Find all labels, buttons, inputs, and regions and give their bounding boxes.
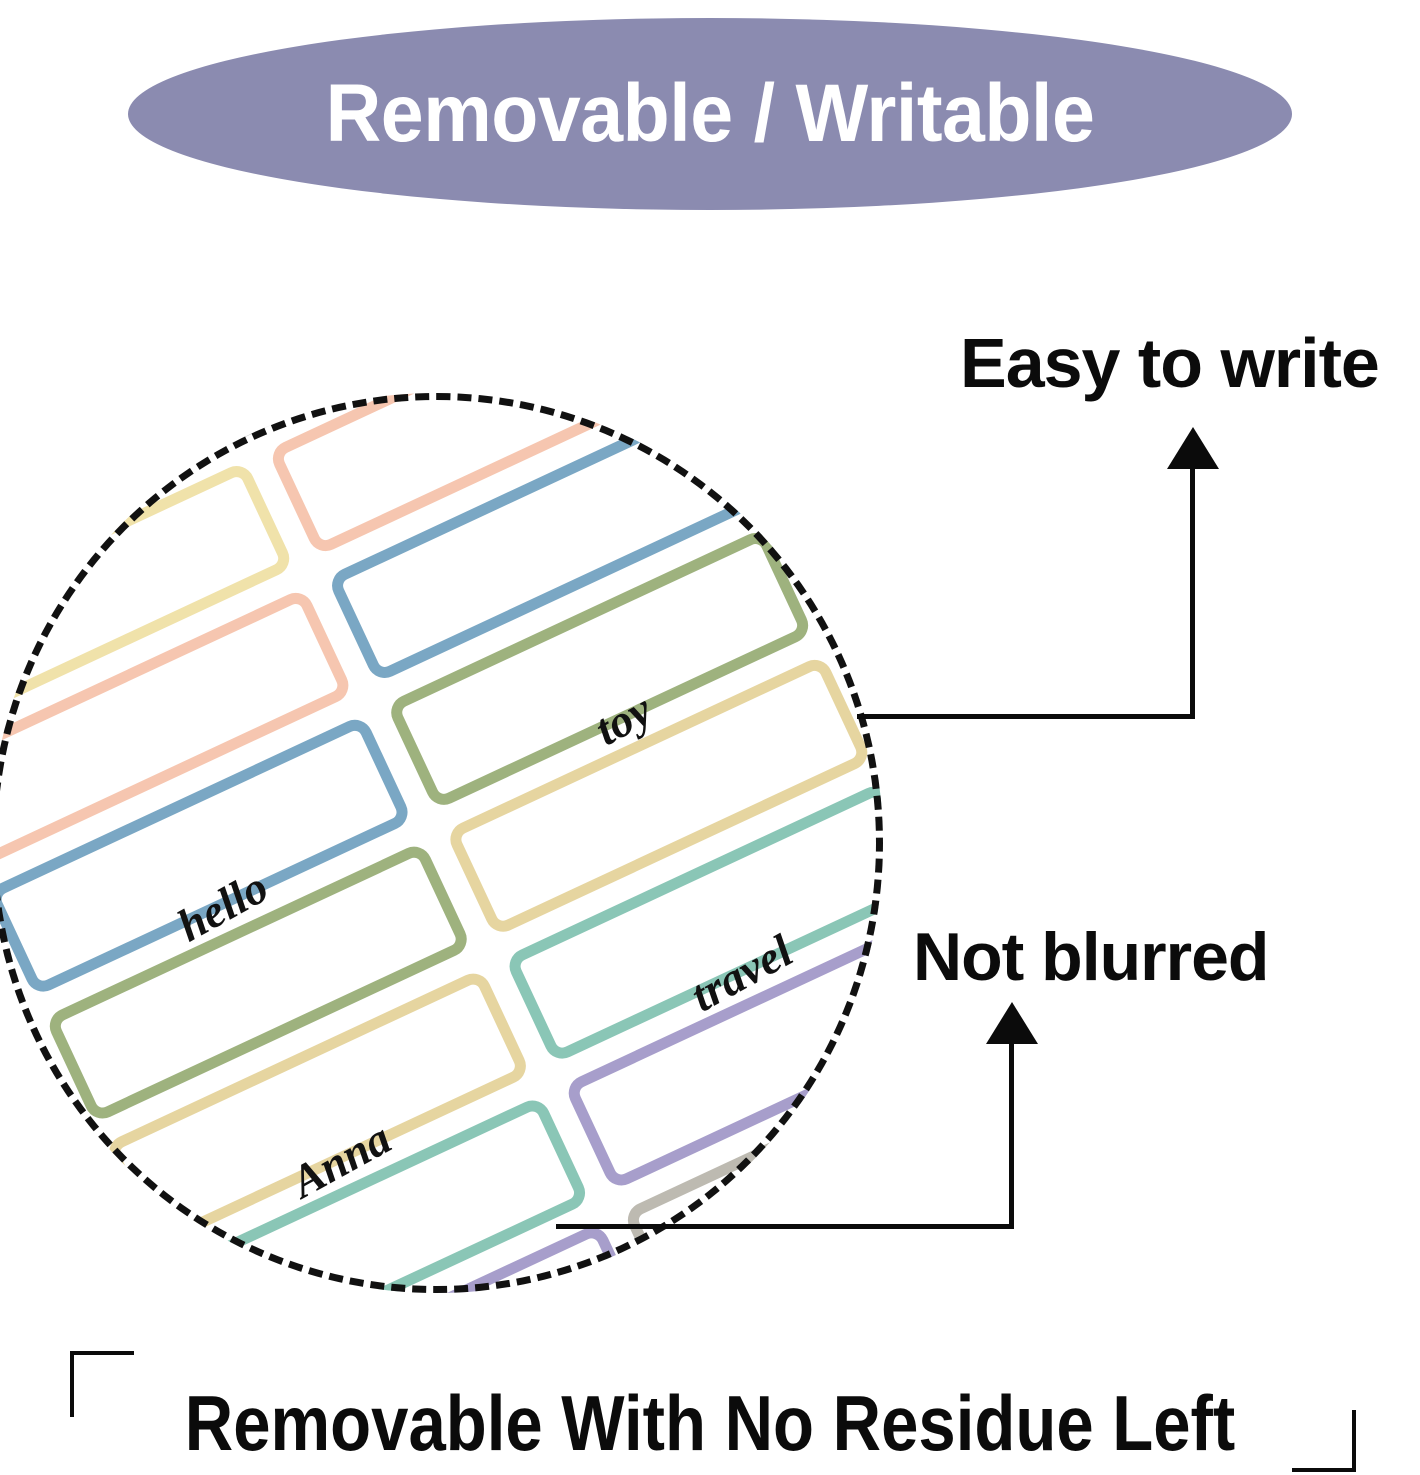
- sticker-grid: hello toy Anna travel: [0, 393, 883, 1293]
- banner-title: Removable / Writable: [163, 18, 1257, 210]
- corner-bracket-bottom-right: [1292, 1410, 1356, 1472]
- bottom-caption: Removable With No Residue Left: [99, 1378, 1320, 1469]
- arrow-up-icon: [1167, 427, 1219, 469]
- sticker-sheet: hello toy Anna travel: [0, 393, 883, 1293]
- callout-easy-to-write-leader-horizontal: [857, 714, 1195, 719]
- callout-not-blurred-leader-horizontal: [556, 1224, 1014, 1229]
- callout-not-blurred-leader-vertical: [1009, 1043, 1014, 1226]
- banner: Removable / Writable: [128, 18, 1292, 210]
- callout-not-blurred-label: Not blurred: [913, 918, 1268, 996]
- arrow-up-icon: [986, 1002, 1038, 1044]
- product-photo-circle: hello toy Anna travel: [0, 393, 883, 1293]
- callout-easy-to-write-leader-vertical: [1190, 469, 1195, 717]
- callout-easy-to-write-label: Easy to write: [960, 323, 1379, 403]
